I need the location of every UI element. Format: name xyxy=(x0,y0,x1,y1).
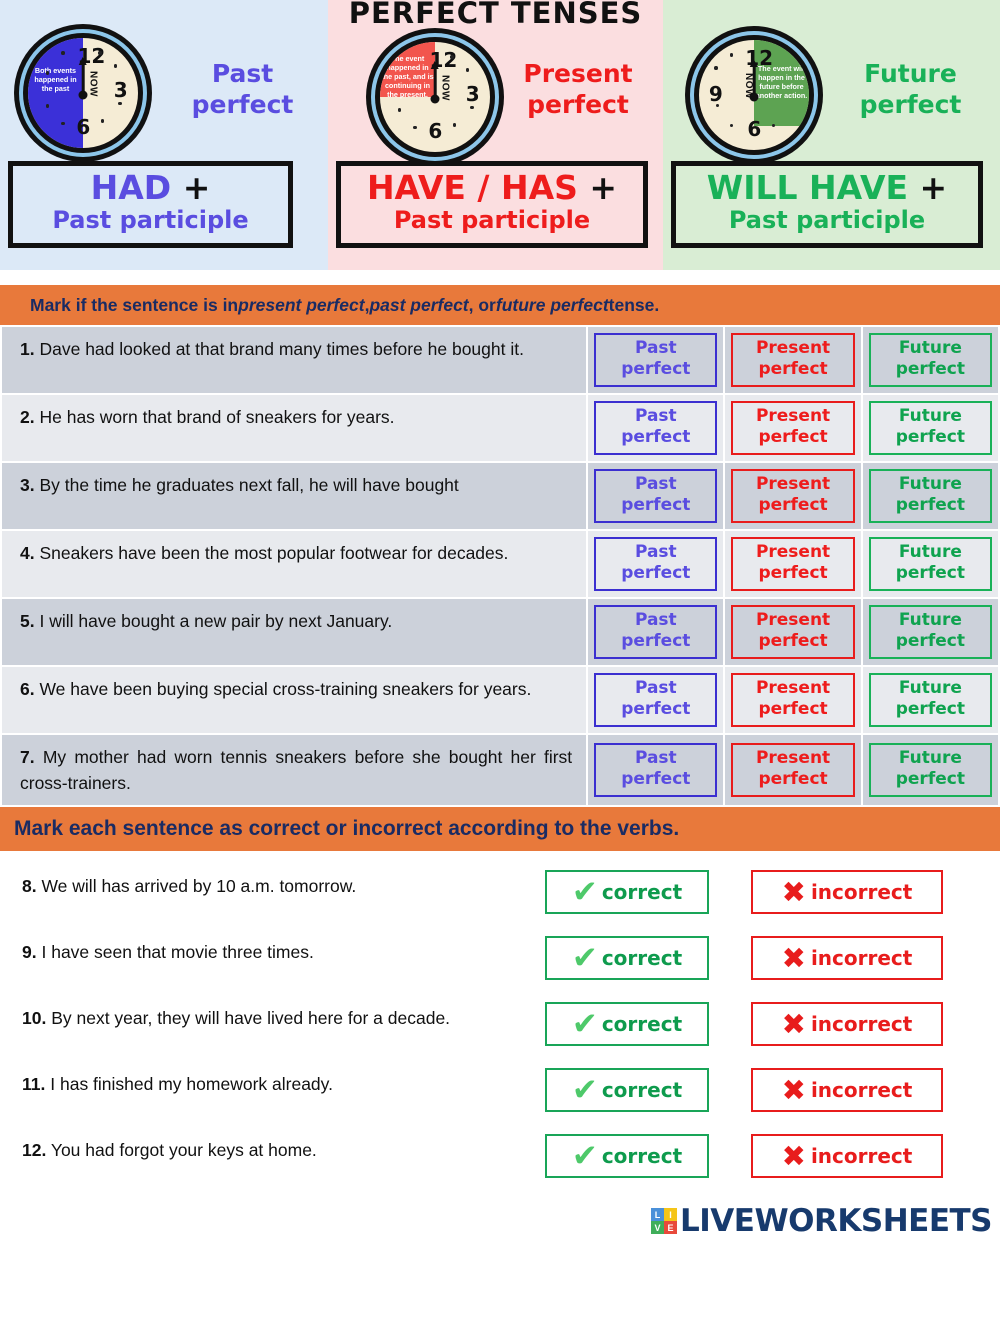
option-incorrect[interactable]: ✖ incorrect xyxy=(751,936,943,980)
table-row: 5. I will have bought a new pair by next… xyxy=(2,599,998,665)
present-perfect-formula: HAVE / HAS + Past participle xyxy=(336,161,648,248)
clock-number-6: 6 xyxy=(76,115,90,139)
sentence-cell: 4. Sneakers have been the most popular f… xyxy=(2,531,586,597)
clock-number-6: 6 xyxy=(747,117,761,141)
sentence-cell: 6. We have been buying special cross-tra… xyxy=(2,667,586,733)
option-future-perfect[interactable]: Future perfect xyxy=(869,537,992,591)
sentence-number: 5. xyxy=(20,611,35,631)
option-cell-past[interactable]: Past perfect xyxy=(588,463,723,529)
sentence-number: 8. xyxy=(22,876,37,896)
sentence-number: 9. xyxy=(22,942,37,962)
option-correct-label: correct xyxy=(602,1078,682,1102)
instruction-part-a: Mark if the sentence is in xyxy=(30,295,238,316)
sentence-text: Dave had looked at that brand many times… xyxy=(39,339,523,359)
perfect-tenses-banner: Both events happened in the past 12 3 6 … xyxy=(0,0,1000,270)
sentence-cell: 8. We will has arrived by 10 a.m. tomorr… xyxy=(0,867,545,905)
option-present-perfect[interactable]: Present perfect xyxy=(731,469,854,523)
option-correct-label: correct xyxy=(602,946,682,970)
plus-sign: + xyxy=(589,168,617,207)
section-2-instruction: Mark each sentence as correct or incorre… xyxy=(0,807,1000,851)
option-incorrect-label: incorrect xyxy=(811,946,912,970)
sentence-text: We will has arrived by 10 a.m. tomorrow. xyxy=(41,876,356,896)
table-row: 3. By the time he graduates next fall, h… xyxy=(2,463,998,529)
sentence-number: 7. xyxy=(20,747,35,767)
future-perfect-panel: The event will happen in the future befo… xyxy=(663,0,1000,270)
answer-options: ✔ correct ✖ incorrect xyxy=(545,999,943,1046)
answer-options: ✔ correct ✖ incorrect xyxy=(545,933,943,980)
list-item: 10. By next year, they will have lived h… xyxy=(0,999,1000,1065)
sentence-cell: 11. I has finished my homework already. xyxy=(0,1065,545,1103)
list-item: 11. I has finished my homework already. … xyxy=(0,1065,1000,1131)
sentence-number: 4. xyxy=(20,543,35,563)
sentence-cell: 3. By the time he graduates next fall, h… xyxy=(2,463,586,529)
cross-mark-icon: ✖ xyxy=(782,1142,806,1171)
sentence-text: By next year, they will have lived here … xyxy=(51,1008,450,1028)
option-cell-present[interactable]: Present perfect xyxy=(725,463,860,529)
option-correct[interactable]: ✔ correct xyxy=(545,1002,709,1046)
sentence-cell: 10. By next year, they will have lived h… xyxy=(0,999,545,1037)
clock-now-label: NOW xyxy=(87,71,98,97)
option-correct[interactable]: ✔ correct xyxy=(545,870,709,914)
sentence-cell: 1. Dave had looked at that brand many ti… xyxy=(2,327,586,393)
option-cell-future[interactable]: Future perfect xyxy=(863,531,998,597)
table-row: 4. Sneakers have been the most popular f… xyxy=(2,531,998,597)
instruction-part-past-perfect: past perfect xyxy=(369,295,468,316)
option-cell-present[interactable]: Present perfect xyxy=(725,395,860,461)
option-cell-past[interactable]: Past perfect xyxy=(588,599,723,665)
sentence-cell: 12. You had forgot your keys at home. xyxy=(0,1131,545,1169)
sentence-number: 2. xyxy=(20,407,35,427)
sentence-number: 3. xyxy=(20,475,35,495)
sentence-text: We have been buying special cross-traini… xyxy=(39,679,531,699)
banner-title: PERFECT TENSES xyxy=(328,0,663,30)
option-incorrect[interactable]: ✖ incorrect xyxy=(751,1002,943,1046)
future-perfect-title: Future perfect xyxy=(823,58,998,120)
option-correct-label: correct xyxy=(602,880,682,904)
table-row: 2. He has worn that brand of sneakers fo… xyxy=(2,395,998,461)
option-past-perfect[interactable]: Past perfect xyxy=(594,743,717,797)
option-cell-past[interactable]: Past perfect xyxy=(588,327,723,393)
option-cell-present[interactable]: Present perfect xyxy=(725,327,860,393)
option-correct[interactable]: ✔ correct xyxy=(545,936,709,980)
option-incorrect[interactable]: ✖ incorrect xyxy=(751,1134,943,1178)
option-future-perfect[interactable]: Future perfect xyxy=(869,673,992,727)
option-incorrect[interactable]: ✖ incorrect xyxy=(751,870,943,914)
clock-now-label: NOW xyxy=(743,73,754,99)
option-correct-label: correct xyxy=(602,1144,682,1168)
sentence-text: My mother had worn tennis sneakers befor… xyxy=(20,747,572,793)
option-cell-future[interactable]: Future perfect xyxy=(863,327,998,393)
instruction-part-e: , or xyxy=(469,295,496,316)
table-row: 7. My mother had worn tennis sneakers be… xyxy=(2,735,998,805)
option-cell-past[interactable]: Past perfect xyxy=(588,667,723,733)
sentence-number: 6. xyxy=(20,679,35,699)
option-present-perfect[interactable]: Present perfect xyxy=(731,743,854,797)
clock-now-label: NOW xyxy=(439,75,450,101)
option-future-perfect[interactable]: Future perfect xyxy=(869,401,992,455)
cross-mark-icon: ✖ xyxy=(782,1010,806,1039)
sentence-text: Sneakers have been the most popular foot… xyxy=(39,543,508,563)
option-correct[interactable]: ✔ correct xyxy=(545,1134,709,1178)
option-incorrect-label: incorrect xyxy=(811,1078,912,1102)
check-mark-icon: ✔ xyxy=(572,1141,598,1172)
sentence-cell: 9. I have seen that movie three times. xyxy=(0,933,545,971)
present-perfect-panel: PERFECT TENSES The event happened in the… xyxy=(328,0,663,270)
cross-mark-icon: ✖ xyxy=(782,878,806,907)
cross-mark-icon: ✖ xyxy=(782,1076,806,1105)
clock-number-6: 6 xyxy=(428,119,442,143)
sentence-text: I have seen that movie three times. xyxy=(41,942,313,962)
option-cell-future[interactable]: Future perfect xyxy=(863,395,998,461)
answer-options: ✔ correct ✖ incorrect xyxy=(545,1131,943,1178)
option-cell-future[interactable]: Future perfect xyxy=(863,735,998,805)
option-future-perfect[interactable]: Future perfect xyxy=(869,743,992,797)
option-incorrect-label: incorrect xyxy=(811,1012,912,1036)
option-past-perfect[interactable]: Past perfect xyxy=(594,401,717,455)
clock-number-3: 3 xyxy=(466,82,480,106)
option-cell-future[interactable]: Future perfect xyxy=(863,463,998,529)
sentence-cell: 5. I will have bought a new pair by next… xyxy=(2,599,586,665)
option-future-perfect[interactable]: Future perfect xyxy=(869,469,992,523)
table-row: 6. We have been buying special cross-tra… xyxy=(2,667,998,733)
sentence-number: 1. xyxy=(20,339,35,359)
option-correct[interactable]: ✔ correct xyxy=(545,1068,709,1112)
clock-number-9: 9 xyxy=(709,82,723,106)
option-present-perfect[interactable]: Present perfect xyxy=(731,605,854,659)
option-cell-present[interactable]: Present perfect xyxy=(725,599,860,665)
instruction-part-g: tense. xyxy=(609,295,660,316)
answer-options: ✔ correct ✖ incorrect xyxy=(545,867,943,914)
clock-number-3: 3 xyxy=(114,78,128,102)
answer-options: ✔ correct ✖ incorrect xyxy=(545,1065,943,1112)
option-incorrect[interactable]: ✖ incorrect xyxy=(751,1068,943,1112)
section-1-instruction: Mark if the sentence is in present perfe… xyxy=(0,285,1000,325)
list-item: 12. You had forgot your keys at home. ✔ … xyxy=(0,1131,1000,1197)
past-perfect-title: Past perfect xyxy=(160,58,325,120)
option-cell-present[interactable]: Present perfect xyxy=(725,667,860,733)
option-present-perfect[interactable]: Present perfect xyxy=(731,673,854,727)
option-cell-present[interactable]: Present perfect xyxy=(725,735,860,805)
present-perfect-title: Present perfect xyxy=(493,58,663,120)
option-cell-past[interactable]: Past perfect xyxy=(588,735,723,805)
logo-squares-icon: LI VE xyxy=(651,1208,677,1234)
check-mark-icon: ✔ xyxy=(572,1075,598,1106)
list-item: 8. We will has arrived by 10 a.m. tomorr… xyxy=(0,867,1000,933)
option-past-perfect[interactable]: Past perfect xyxy=(594,673,717,727)
list-item: 9. I have seen that movie three times. ✔… xyxy=(0,933,1000,999)
check-mark-icon: ✔ xyxy=(572,943,598,974)
sentence-number: 10. xyxy=(22,1008,46,1028)
present-clock-shaded-region: The event happened in the past, and is c… xyxy=(380,42,435,97)
logo-wordmark: LIVEWORKSHEETS xyxy=(680,1203,992,1239)
option-past-perfect[interactable]: Past perfect xyxy=(594,537,717,591)
option-present-perfect[interactable]: Present perfect xyxy=(731,537,854,591)
plus-sign: + xyxy=(920,168,948,207)
option-past-perfect[interactable]: Past perfect xyxy=(594,469,717,523)
past-perfect-formula: HAD + Past participle xyxy=(8,161,293,248)
option-future-perfect[interactable]: Future perfect xyxy=(869,605,992,659)
sentence-cell: 7. My mother had worn tennis sneakers be… xyxy=(2,735,586,805)
sentence-text: You had forgot your keys at home. xyxy=(51,1140,317,1160)
sentence-text: I will have bought a new pair by next Ja… xyxy=(39,611,392,631)
future-perfect-clock: The event will happen in the future befo… xyxy=(685,26,823,164)
past-perfect-clock: Both events happened in the past 12 3 6 … xyxy=(14,24,152,162)
footer: LI VE LIVEWORKSHEETS xyxy=(0,1197,1000,1239)
plus-sign: + xyxy=(183,168,211,207)
future-perfect-formula: WILL HAVE + Past participle xyxy=(671,161,983,248)
option-cell-future[interactable]: Future perfect xyxy=(863,599,998,665)
option-future-perfect[interactable]: Future perfect xyxy=(869,333,992,387)
past-clock-shaded-region: Both events happened in the past xyxy=(28,38,83,148)
option-past-perfect[interactable]: Past perfect xyxy=(594,605,717,659)
check-mark-icon: ✔ xyxy=(572,877,598,908)
option-cell-past[interactable]: Past perfect xyxy=(588,395,723,461)
past-perfect-panel: Both events happened in the past 12 3 6 … xyxy=(0,0,328,270)
option-cell-future[interactable]: Future perfect xyxy=(863,667,998,733)
sentence-number: 11. xyxy=(22,1074,45,1094)
option-incorrect-label: incorrect xyxy=(811,880,912,904)
liveworksheets-logo[interactable]: LI VE LIVEWORKSHEETS xyxy=(651,1203,992,1239)
sentence-cell: 2. He has worn that brand of sneakers fo… xyxy=(2,395,586,461)
table-row: 1. Dave had looked at that brand many ti… xyxy=(2,327,998,393)
option-cell-past[interactable]: Past perfect xyxy=(588,531,723,597)
option-present-perfect[interactable]: Present perfect xyxy=(731,333,854,387)
check-mark-icon: ✔ xyxy=(572,1009,598,1040)
correct-incorrect-list: 8. We will has arrived by 10 a.m. tomorr… xyxy=(0,851,1000,1197)
option-present-perfect[interactable]: Present perfect xyxy=(731,401,854,455)
instruction-part-future-perfect: future perfect xyxy=(496,295,609,316)
option-incorrect-label: incorrect xyxy=(811,1144,912,1168)
cross-mark-icon: ✖ xyxy=(782,944,806,973)
tense-selection-table: 1. Dave had looked at that brand many ti… xyxy=(0,325,1000,807)
sentence-text: By the time he graduates next fall, he w… xyxy=(39,475,458,495)
instruction-part-present-perfect: present perfect xyxy=(238,295,364,316)
option-cell-present[interactable]: Present perfect xyxy=(725,531,860,597)
option-correct-label: correct xyxy=(602,1012,682,1036)
sentence-number: 12. xyxy=(22,1140,46,1160)
present-perfect-clock: The event happened in the past, and is c… xyxy=(366,28,504,166)
option-past-perfect[interactable]: Past perfect xyxy=(594,333,717,387)
sentence-text: He has worn that brand of sneakers for y… xyxy=(39,407,394,427)
sentence-text: I has finished my homework already. xyxy=(50,1074,333,1094)
